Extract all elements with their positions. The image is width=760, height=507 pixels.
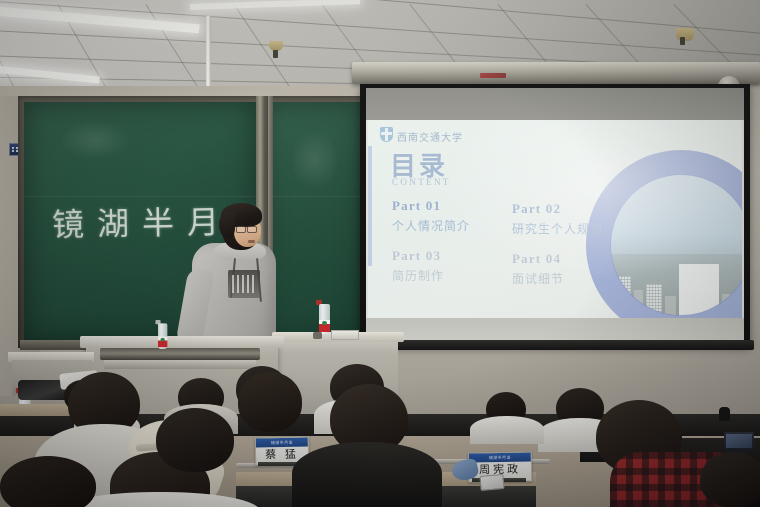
part-text: 简历制作: [392, 267, 444, 284]
podium-panel: [104, 360, 256, 369]
audience-head-foreground: [156, 408, 234, 472]
bottle-body: [158, 323, 167, 349]
audience-shoulders: [292, 442, 442, 507]
screen-top-band: [366, 88, 744, 120]
ceiling-grid-line: [0, 0, 760, 62]
smartphone[interactable]: [479, 474, 504, 491]
presenter-hair: [219, 212, 235, 238]
laptop[interactable]: [724, 432, 754, 452]
slide-ring-graphic: [586, 150, 742, 318]
eyeglasses-icon: [236, 226, 246, 233]
podium-top-surface: [80, 336, 284, 348]
bottle-label: [319, 320, 330, 332]
eyeglasses-icon: [247, 226, 257, 233]
eraser-block[interactable]: [331, 330, 359, 340]
small-object: [313, 332, 322, 339]
lecture-hall-photo: 镜湖半月谈: [0, 0, 760, 507]
part-text: 面试细节: [512, 270, 564, 287]
hoodie-graphic-print: [228, 270, 260, 298]
slide-part-01: Part 01 个人情况简介: [392, 198, 470, 234]
part-number: Part 03: [392, 248, 444, 264]
audience-head-foreground: [0, 456, 96, 507]
audience-head-foreground: [700, 452, 760, 507]
part-text: 研究生个人规划: [512, 220, 603, 237]
part-number: Part 01: [392, 198, 470, 214]
chalk-smudge: [60, 120, 130, 160]
ceiling-speaker-icon: [269, 41, 283, 51]
slide-content: 西南交通大学 目录 CONTENT Part 01 个人情况简介 Part 02…: [368, 120, 742, 318]
bottle-label: [158, 337, 167, 347]
ceiling-grid-line: [0, 4, 22, 96]
shield-cross-icon: [380, 127, 393, 142]
ceiling-speaker-icon: [676, 28, 694, 41]
university-logo: 西南交通大学: [380, 127, 476, 143]
slide-part-04: Part 04 面试细节: [512, 251, 564, 287]
part-text: 个人情况简介: [392, 217, 470, 234]
slide-subtitle: CONTENT: [392, 177, 451, 187]
projection-screen: 西南交通大学 目录 CONTENT Part 01 个人情况简介 Part 02…: [366, 88, 744, 340]
ceiling-grid-line: [146, 4, 205, 96]
presenter-mouth: [248, 240, 255, 243]
bottle-body: [319, 304, 330, 334]
audience-head: [238, 372, 302, 432]
screen-housing: [352, 62, 760, 84]
part-number: Part 04: [512, 251, 564, 267]
slide-ring: [586, 150, 742, 318]
blackboard-seam: [262, 196, 364, 197]
chalk-smudge: [290, 130, 340, 190]
slide-accent-bar: [368, 146, 372, 266]
slide-part-03: Part 03 简历制作: [392, 248, 444, 284]
podium-equipment-slot: [100, 348, 260, 360]
screen-bottom-band: [366, 318, 744, 340]
wall-outlet: [719, 407, 730, 421]
part-number: Part 02: [512, 201, 603, 217]
audience-shoulders: [470, 416, 544, 444]
slide-part-02: Part 02 研究生个人规划: [512, 201, 603, 237]
screen-brand-logo: [480, 73, 506, 78]
screen-weight-bar: [356, 340, 754, 350]
university-logo-text: 西南交通大学: [397, 129, 463, 144]
